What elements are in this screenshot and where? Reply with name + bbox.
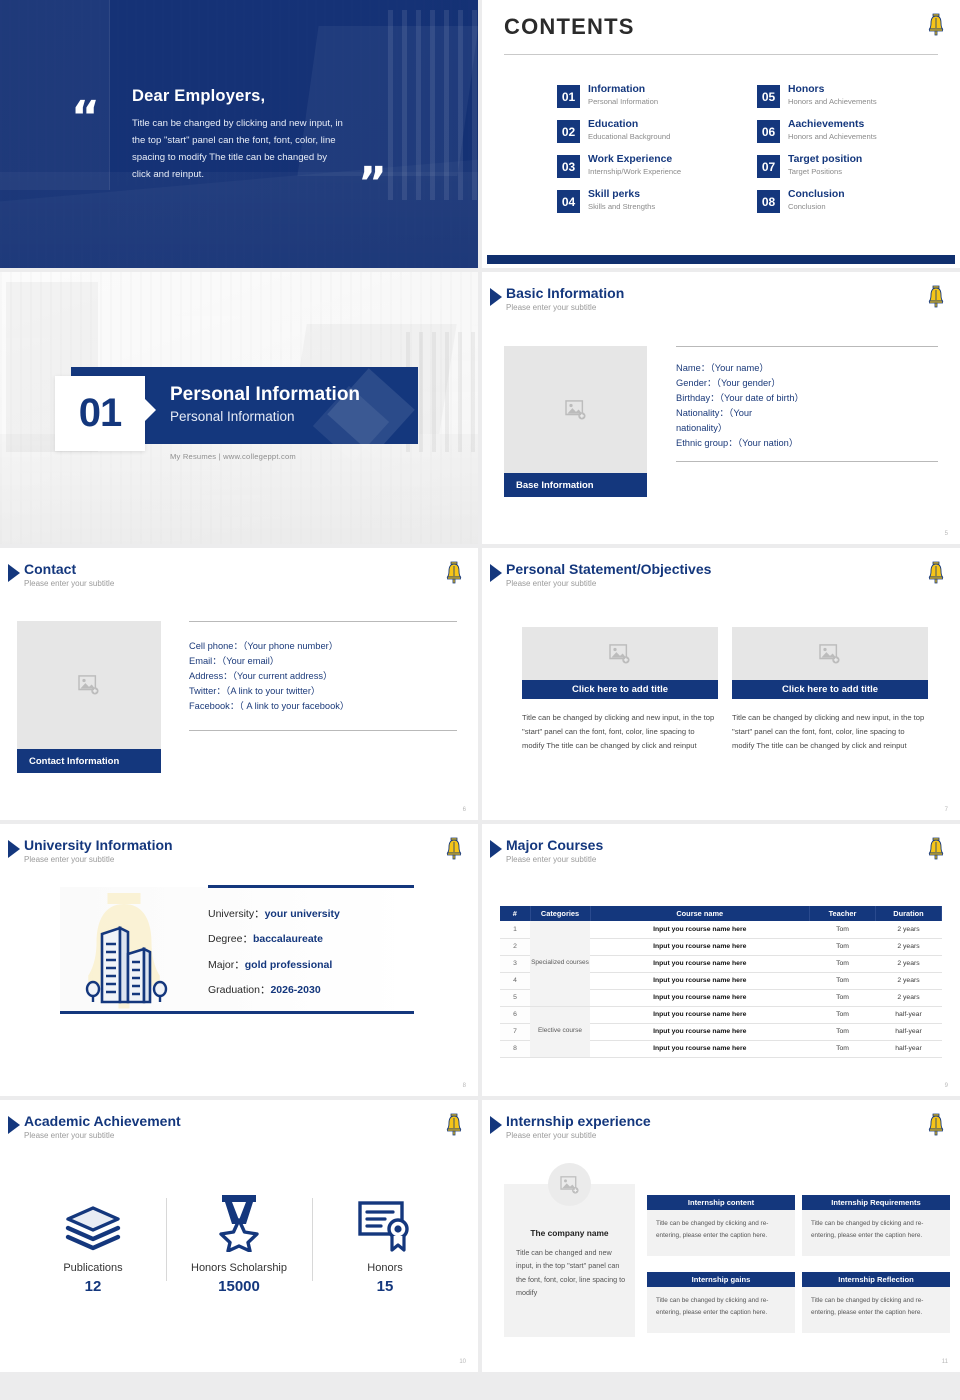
stat-value: 12: [85, 1278, 102, 1295]
internship-card-reflection[interactable]: Internship Reflection Title can be chang…: [802, 1272, 950, 1333]
page-number: 8: [463, 1083, 466, 1089]
slide-personal-statement[interactable]: Personal Statement/Objectives Please ent…: [482, 548, 960, 820]
card-title[interactable]: Internship Reflection: [802, 1272, 950, 1287]
cell-course: Input you rcourse name here: [590, 921, 810, 938]
contents-item-title: Conclusion: [788, 189, 845, 201]
contents-list: 01 Information Personal Information 05 H…: [557, 84, 957, 213]
company-photo-placeholder[interactable]: [548, 1163, 591, 1206]
stat-label: Honors Scholarship: [191, 1262, 287, 1274]
university-rule-top: [208, 885, 414, 888]
contact-row-facebook: Facebook：（ A link to your facebook）: [189, 699, 457, 714]
info-row-nationality-cont: nationality）: [676, 421, 938, 436]
contents-item-title: Honors: [788, 84, 877, 96]
title-arrow-icon: [490, 564, 502, 582]
field-value: 2026-2030: [270, 984, 320, 996]
page-subtitle: Please enter your subtitle: [24, 1131, 114, 1140]
page-title: Personal Statement/Objectives: [506, 561, 711, 577]
internship-card-requirements[interactable]: Internship Requirements Title can be cha…: [802, 1195, 950, 1256]
card-title[interactable]: Internship gains: [647, 1272, 795, 1287]
photo-placeholder[interactable]: [732, 627, 928, 680]
section-subtitle: Personal Information: [170, 409, 295, 424]
slide-major-courses[interactable]: Major Courses Please enter your subtitle…: [482, 824, 960, 1096]
field-label: Graduation：: [208, 984, 270, 996]
title-arrow-icon: [8, 1116, 20, 1134]
stat-value: 15000: [218, 1278, 260, 1295]
card-text: Title can be changed by clicking and re-…: [647, 1210, 795, 1256]
field-value: your university: [265, 908, 340, 920]
cell-index: 7: [500, 1023, 530, 1040]
title-arrow-icon: [490, 840, 502, 858]
photo-placeholder[interactable]: [522, 627, 718, 680]
cell-duration: half-year: [876, 1006, 942, 1023]
university-row-university: University：your university: [208, 902, 340, 927]
contents-item-subtitle: Honors and Achievements: [788, 98, 877, 107]
university-bell-logo-icon: [926, 284, 946, 308]
page-title: Basic Information: [506, 285, 624, 301]
stat-value: 15: [377, 1278, 394, 1295]
cell-teacher: Tom: [810, 955, 876, 972]
col-categories: Categories: [530, 906, 590, 921]
cell-course: Input you rcourse name here: [590, 972, 810, 989]
contents-item-03[interactable]: 03 Work Experience Internship/Work Exper…: [557, 154, 737, 178]
title-arrow-icon: [490, 1116, 502, 1134]
col-teacher: Teacher: [810, 906, 876, 921]
internship-card-gains[interactable]: Internship gains Title can be changed by…: [647, 1272, 795, 1333]
cell-course: Input you rcourse name here: [590, 1006, 810, 1023]
photo-caption: Contact Information: [17, 749, 161, 773]
page-title: Academic Achievement: [24, 1113, 181, 1129]
university-bell-logo-icon: [444, 1112, 464, 1136]
contents-item-title: Education: [588, 119, 670, 131]
quote-open-icon: “: [71, 96, 98, 140]
contents-item-04[interactable]: 04 Skill perks Skills and Strengths: [557, 189, 737, 213]
contents-item-subtitle: Personal Information: [588, 98, 658, 107]
col-duration: Duration: [876, 906, 942, 921]
page-number: 11: [942, 1359, 948, 1365]
page-subtitle: Please enter your subtitle: [506, 1131, 596, 1140]
contents-number: 01: [557, 85, 580, 108]
cell-duration: half-year: [876, 1040, 942, 1057]
cell-course: Input you rcourse name here: [590, 955, 810, 972]
section-title: Personal Information: [170, 384, 360, 406]
cell-teacher: Tom: [810, 921, 876, 938]
contents-number: 04: [557, 190, 580, 213]
cover-title: Dear Employers,: [132, 87, 265, 106]
page-number: 6: [463, 807, 466, 813]
statement-card-text: Title can be changed by clicking and new…: [522, 711, 718, 753]
photo-placeholder[interactable]: [504, 346, 647, 473]
courses-table[interactable]: # Categories Course name Teacher Duratio…: [500, 906, 942, 1058]
books-stack-icon: [64, 1192, 122, 1252]
slide-cover-letter[interactable]: “ Dear Employers, Title can be changed b…: [0, 0, 478, 268]
contact-row-twitter: Twitter：（A link to your twitter）: [189, 684, 457, 699]
contents-item-subtitle: Honors and Achievements: [788, 133, 877, 142]
internship-card-content[interactable]: Internship content Title can be changed …: [647, 1195, 795, 1256]
contents-number: 02: [557, 120, 580, 143]
contents-item-02[interactable]: 02 Education Educational Background: [557, 119, 737, 143]
section-footer: My Resumes | www.collegeppt.com: [170, 452, 296, 461]
ground-plane: [0, 172, 478, 268]
cell-course: Input you rcourse name here: [590, 989, 810, 1006]
page-subtitle: Please enter your subtitle: [24, 579, 114, 588]
col-index: #: [500, 906, 530, 921]
statement-card-title[interactable]: Click here to add title: [522, 680, 718, 699]
cell-teacher: Tom: [810, 1040, 876, 1057]
card-text: Title can be changed by clicking and re-…: [802, 1210, 950, 1256]
contact-row-address: Address：（Your current address）: [189, 669, 457, 684]
cell-index: 6: [500, 1006, 530, 1023]
cell-index: 1: [500, 921, 530, 938]
university-bell-logo-icon: [444, 836, 464, 860]
certificate-icon: [357, 1192, 413, 1252]
contents-item-title: Target position: [788, 154, 862, 166]
stat-label: Publications: [63, 1262, 122, 1274]
image-placeholder-icon: [560, 1176, 580, 1194]
cell-duration: 2 years: [876, 938, 942, 955]
statement-card-1[interactable]: Click here to add title Title can be cha…: [522, 627, 718, 753]
cell-course: Input you rcourse name here: [590, 938, 810, 955]
contents-item-subtitle: Target Positions: [788, 168, 862, 177]
slide-internship-experience[interactable]: Internship experience Please enter your …: [482, 1100, 960, 1372]
field-value: baccalaureate: [253, 933, 323, 945]
contents-number: 07: [757, 155, 780, 178]
section-number: 01: [79, 391, 122, 436]
contents-footer-bar: [487, 255, 955, 264]
university-field-list: University：your university Degree：baccal…: [208, 902, 340, 1004]
info-row-ethnic-group: Ethnic group：（Your nation）: [676, 436, 938, 451]
cell-index: 2: [500, 938, 530, 955]
contents-item-subtitle: Internship/Work Experience: [588, 168, 681, 177]
quote-close-icon: ”: [358, 162, 385, 206]
table-row: 6 Elective course Input you rcourse name…: [500, 1006, 942, 1023]
col-course-name: Course name: [590, 906, 810, 921]
university-bell-logo-icon: [926, 836, 946, 860]
table-header-row: # Categories Course name Teacher Duratio…: [500, 906, 942, 921]
table-row: 1 Specialized courses Input you rcourse …: [500, 921, 942, 938]
contents-item-subtitle: Conclusion: [788, 203, 845, 212]
page-title: Contact: [24, 561, 76, 577]
page-number: 9: [945, 1083, 948, 1089]
field-label: Major：: [208, 959, 245, 971]
stat-label: Honors: [367, 1262, 402, 1274]
title-arrow-icon: [490, 288, 502, 306]
university-bell-logo-icon: [926, 560, 946, 584]
statement-card-2[interactable]: Click here to add title Title can be cha…: [732, 627, 928, 753]
slide-contact[interactable]: Contact Please enter your subtitle Conta…: [0, 548, 478, 820]
info-row-birthday: Birthday：（Your date of birth）: [676, 391, 938, 406]
image-placeholder-icon: [819, 644, 841, 664]
section-arrow-icon: [145, 399, 156, 421]
card-title[interactable]: Internship content: [647, 1195, 795, 1210]
stat-honors[interactable]: Honors 15: [312, 1192, 458, 1295]
card-text: Title can be changed by clicking and re-…: [647, 1287, 795, 1333]
contents-number: 06: [757, 120, 780, 143]
cell-duration: 2 years: [876, 955, 942, 972]
cell-duration: 2 years: [876, 921, 942, 938]
cell-category: Elective course: [530, 1006, 590, 1057]
page-number: 5: [945, 531, 948, 537]
slide-contents[interactable]: CONTENTS 01 Information Personal Informa…: [482, 0, 960, 268]
info-row-name: Name：（Your name）: [676, 361, 938, 376]
field-list-rule-bottom: [676, 461, 938, 462]
university-bell-logo-icon: [926, 1112, 946, 1136]
title-arrow-icon: [8, 564, 20, 582]
contents-item-subtitle: Skills and Strengths: [588, 203, 655, 212]
contents-item-06[interactable]: 06 Aachievements Honors and Achievements: [757, 119, 937, 143]
cell-duration: 2 years: [876, 989, 942, 1006]
page-number: 10: [459, 1359, 466, 1365]
cell-category: Specialized courses: [530, 921, 590, 1006]
card-title[interactable]: Internship Requirements: [802, 1195, 950, 1210]
cell-index: 8: [500, 1040, 530, 1057]
slide-section-divider-01[interactable]: 01 Personal Information Personal Informa…: [0, 272, 478, 544]
contact-row-cellphone: Cell phone：（Your phone number）: [189, 639, 457, 654]
cell-index: 4: [500, 972, 530, 989]
company-description: Title can be changed and new input, in t…: [516, 1246, 626, 1299]
contents-item-title: Work Experience: [588, 154, 681, 166]
image-placeholder-icon: [609, 644, 631, 664]
card-text: Title can be changed by clicking and re-…: [802, 1287, 950, 1333]
slide-basic-information[interactable]: Basic Information Please enter your subt…: [482, 272, 960, 544]
field-label: University：: [208, 908, 265, 920]
cell-teacher: Tom: [810, 938, 876, 955]
field-label: Degree：: [208, 933, 253, 945]
cell-course: Input you rcourse name here: [590, 1040, 810, 1057]
contents-item-subtitle: Educational Background: [588, 133, 670, 142]
university-row-graduation: Graduation：2026-2030: [208, 978, 340, 1003]
contents-item-01[interactable]: 01 Information Personal Information: [557, 84, 737, 108]
photo-caption: Base Information: [504, 473, 647, 497]
page-subtitle: Please enter your subtitle: [24, 855, 114, 864]
contents-number: 05: [757, 85, 780, 108]
statement-card-text: Title can be changed by clicking and new…: [732, 711, 928, 753]
field-value: gold professional: [245, 959, 333, 971]
achievement-stats: Publications 12 Honors Scholarship 15000: [20, 1192, 458, 1295]
cell-teacher: Tom: [810, 1006, 876, 1023]
page-title: Internship experience: [506, 1113, 651, 1129]
slide-academic-achievement[interactable]: Academic Achievement Please enter your s…: [0, 1100, 478, 1372]
university-row-major: Major：gold professional: [208, 953, 340, 978]
title-arrow-icon: [8, 840, 20, 858]
slide-university-information[interactable]: University Information Please enter your…: [0, 824, 478, 1096]
info-row-nationality: Nationality：（Your: [676, 406, 938, 421]
page-subtitle: Please enter your subtitle: [506, 303, 596, 312]
contents-heading: CONTENTS: [504, 14, 635, 40]
cell-teacher: Tom: [810, 1023, 876, 1040]
contents-number: 03: [557, 155, 580, 178]
cell-teacher: Tom: [810, 972, 876, 989]
university-bell-logo-icon: [444, 560, 464, 584]
city-buildings-icon: [72, 916, 180, 1012]
image-placeholder-icon: [78, 675, 100, 695]
cell-duration: half-year: [876, 1023, 942, 1040]
page-subtitle: Please enter your subtitle: [506, 855, 596, 864]
cover-body-text: Title can be changed by clicking and new…: [132, 115, 347, 183]
page-subtitle: Please enter your subtitle: [506, 579, 596, 588]
contact-row-email: Email：（Your email）: [189, 654, 457, 669]
stat-publications[interactable]: Publications 12: [20, 1192, 166, 1295]
slide-deck-contact-sheet: “ Dear Employers, Title can be changed b…: [0, 0, 960, 1400]
cell-teacher: Tom: [810, 989, 876, 1006]
page-title: Major Courses: [506, 837, 603, 853]
contents-number: 08: [757, 190, 780, 213]
contents-divider: [504, 54, 938, 55]
cell-index: 3: [500, 955, 530, 972]
statement-card-title[interactable]: Click here to add title: [732, 680, 928, 699]
contact-field-list: Cell phone：（Your phone number） Email：（Yo…: [189, 621, 457, 731]
info-field-list: Name：（Your name） Gender：（Your gender） Bi…: [676, 346, 938, 462]
cell-index: 5: [500, 989, 530, 1006]
photo-placeholder[interactable]: [17, 621, 161, 749]
cell-course: Input you rcourse name here: [590, 1023, 810, 1040]
stat-honors-scholarship[interactable]: Honors Scholarship 15000: [166, 1192, 312, 1295]
info-row-gender: Gender：（Your gender）: [676, 376, 938, 391]
page-number: 7: [945, 807, 948, 813]
image-placeholder-icon: [565, 400, 587, 420]
contents-item-title: Skill perks: [588, 189, 655, 201]
medal-icon: [214, 1192, 264, 1252]
contents-item-08[interactable]: 08 Conclusion Conclusion: [757, 189, 937, 213]
company-name: The company name: [504, 1228, 635, 1238]
university-bell-logo-icon: [926, 12, 946, 36]
contents-item-title: Information: [588, 84, 658, 96]
contents-item-title: Aachievements: [788, 119, 877, 131]
page-title: University Information: [24, 837, 173, 853]
contents-item-05[interactable]: 05 Honors Honors and Achievements: [757, 84, 937, 108]
cell-duration: 2 years: [876, 972, 942, 989]
university-row-degree: Degree：baccalaureate: [208, 927, 340, 952]
university-rule-bottom: [60, 1011, 414, 1014]
section-number-box: 01: [55, 376, 145, 451]
field-list-rule-bottom: [189, 730, 457, 731]
contents-item-07[interactable]: 07 Target position Target Positions: [757, 154, 937, 178]
